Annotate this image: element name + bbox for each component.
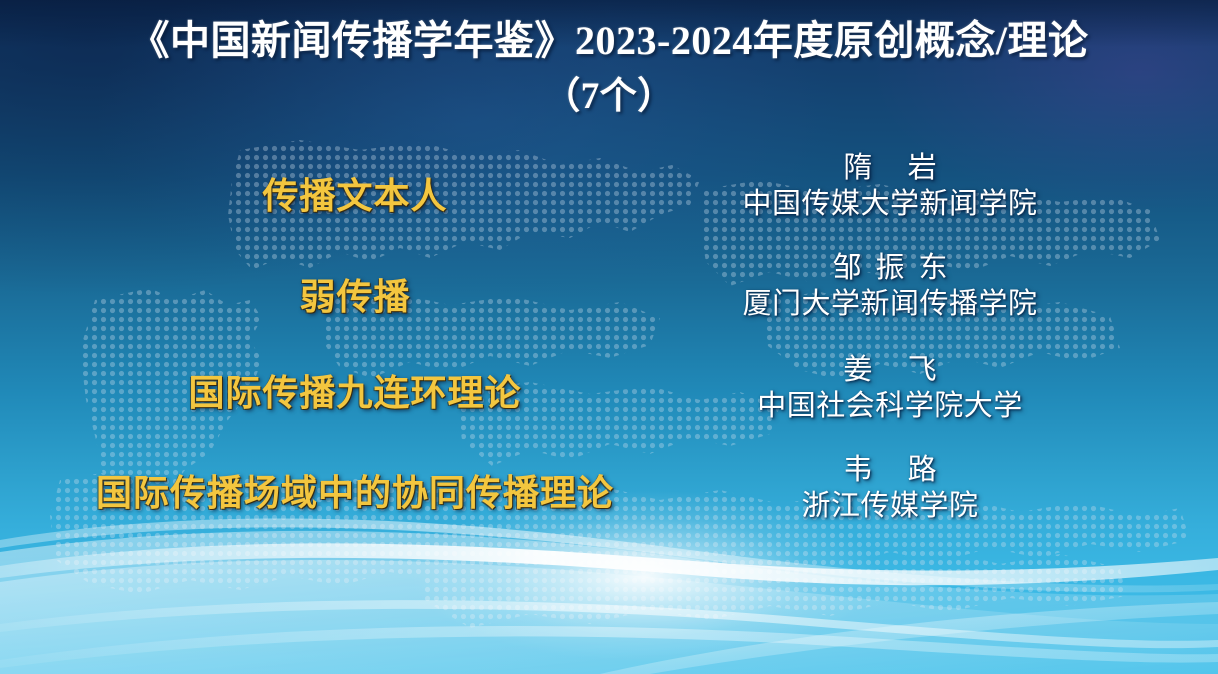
author-block-1: 隋 岩 中国传媒大学新闻学院 [690, 150, 1090, 224]
concept-item-2: 弱传播 [55, 268, 655, 320]
author-name-2: 邹振东 [690, 250, 1090, 286]
presentation-slide: 《中国新闻传播学年鉴》2023-2024年度原创概念/理论 （7个） 传播文本人… [0, 0, 1218, 674]
author-name-3: 姜 飞 [690, 352, 1090, 388]
title-line-1: 《中国新闻传播学年鉴》2023-2024年度原创概念/理论 [130, 18, 1089, 63]
author-org-2: 厦门大学新闻传播学院 [690, 286, 1090, 324]
author-block-3: 姜 飞 中国社会科学院大学 [690, 352, 1090, 426]
author-org-4: 浙江传媒学院 [690, 488, 1090, 526]
author-block-2: 邹振东 厦门大学新闻传播学院 [690, 250, 1090, 324]
author-org-1: 中国传媒大学新闻学院 [690, 186, 1090, 224]
author-org-3: 中国社会科学院大学 [690, 388, 1090, 426]
concept-item-4: 国际传播场域中的协同传播理论 [55, 464, 655, 516]
author-name-4: 韦 路 [690, 452, 1090, 488]
concept-item-3: 国际传播九连环理论 [55, 364, 655, 416]
title-line-2: （7个） [0, 70, 1218, 124]
author-block-4: 韦 路 浙江传媒学院 [690, 452, 1090, 526]
concept-item-1: 传播文本人 [55, 167, 655, 219]
author-name-1: 隋 岩 [690, 150, 1090, 186]
page-title: 《中国新闻传播学年鉴》2023-2024年度原创概念/理论 （7个） [0, 12, 1218, 124]
